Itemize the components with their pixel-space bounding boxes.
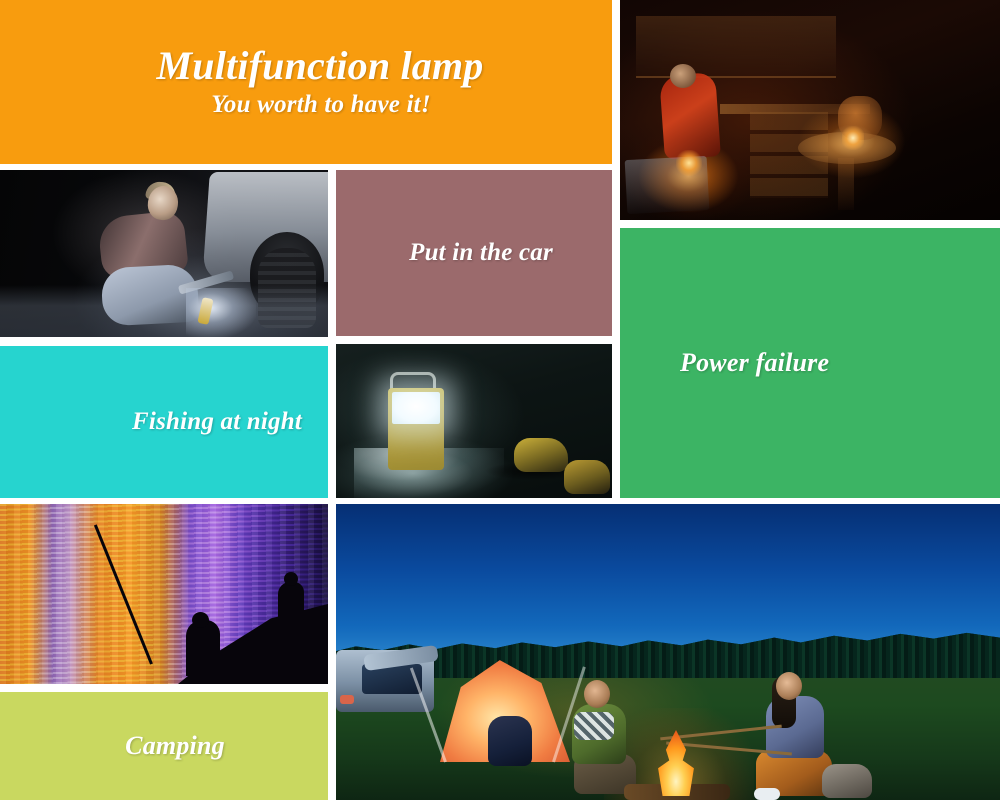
label-camping: Camping	[103, 731, 225, 761]
table-leg-shape	[838, 158, 854, 210]
hero-banner: Multifunction lamp You worth to have it!	[0, 0, 612, 164]
photo-night-fishing	[0, 504, 328, 684]
page-subtitle: You worth to have it!	[181, 91, 431, 119]
photo-lamp-product	[336, 344, 612, 498]
angler-head-silhouette-front	[192, 612, 209, 628]
candle-glow-left	[676, 150, 702, 176]
car-taillight-shape	[340, 695, 354, 704]
man-head-shape	[584, 680, 610, 708]
label-fishing-at-night: Fishing at night	[132, 408, 328, 436]
label-tile-fishing-at-night: Fishing at night	[0, 346, 328, 498]
label-tile-put-in-the-car: Put in the car	[336, 170, 612, 336]
tool-object-shape-a	[514, 438, 568, 472]
angler-head-silhouette-back	[284, 572, 298, 586]
angler-silhouette-back	[278, 582, 304, 622]
man-scarf-shape	[574, 712, 614, 740]
photo-car-repair	[0, 170, 328, 337]
lamp-led-panel-shape	[392, 392, 440, 424]
page-title: Multifunction lamp	[128, 45, 483, 87]
label-tile-camping: Camping	[0, 692, 328, 800]
shoe-shape	[754, 788, 780, 800]
backpack-shape	[488, 716, 532, 766]
rock-seat-shape	[822, 764, 872, 798]
angler-silhouette-front	[186, 620, 220, 676]
promo-collage: Multifunction lamp You worth to have it!…	[0, 0, 1000, 800]
candle-glow-table	[842, 126, 864, 150]
label-put-in-the-car: Put in the car	[395, 239, 553, 267]
upper-cabinet-shape	[636, 16, 836, 78]
photo-kitchen-blackout	[620, 0, 1000, 220]
lamp-glow-shape	[186, 288, 256, 337]
person-legs-shape	[101, 264, 200, 327]
label-power-failure: Power failure	[620, 348, 829, 378]
label-tile-power-failure: Power failure	[620, 228, 1000, 498]
tool-object-shape-b	[564, 460, 610, 494]
person-red-jacket-head-shape	[670, 64, 696, 88]
woman-head-shape	[776, 672, 802, 700]
photo-campfire	[336, 504, 1000, 800]
